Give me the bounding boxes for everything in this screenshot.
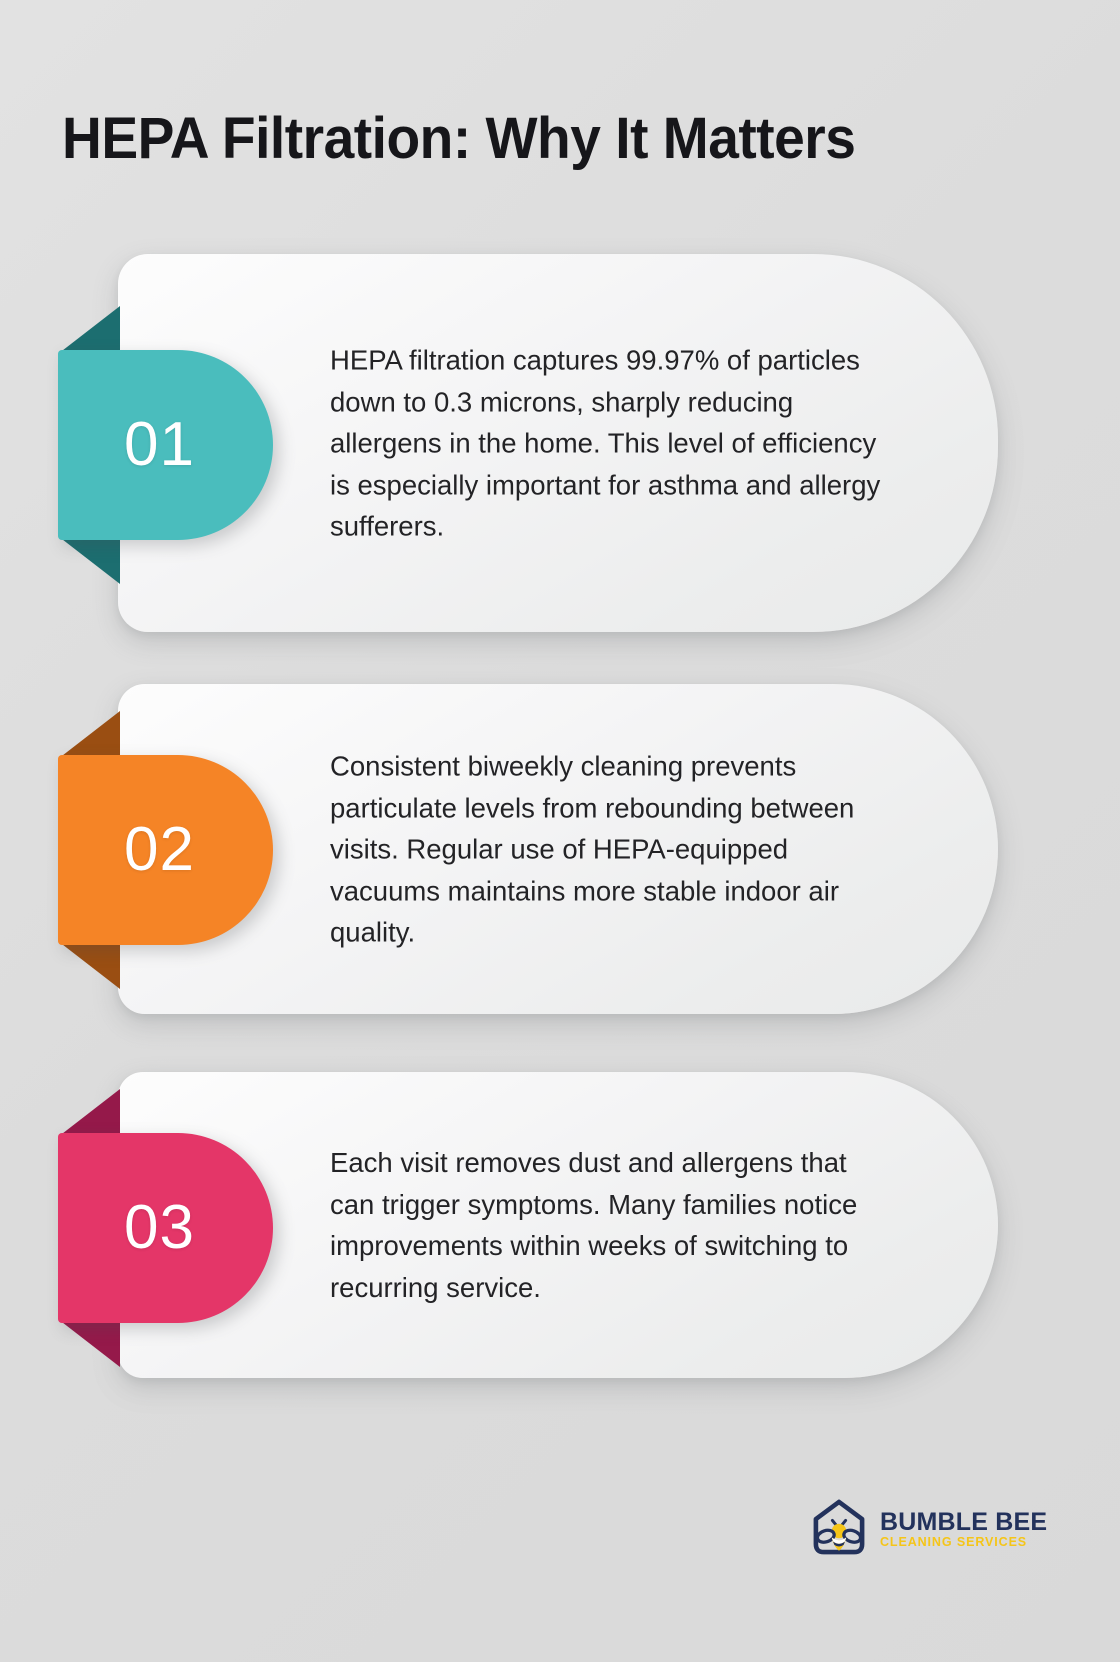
card-2-body-text: Consistent biweekly cleaning prevents pa…	[330, 745, 888, 953]
ribbon-fold-shape	[58, 711, 120, 759]
ribbon-fold-bottom-3	[58, 1319, 120, 1367]
badge-body-2: 02	[58, 755, 273, 945]
ribbon-fold-shape	[58, 306, 120, 354]
ribbon-fold-top-2	[58, 711, 120, 759]
ribbon-fold-top-1	[58, 306, 120, 354]
infographic-page: HEPA Filtration: Why It Matters HEPA fil…	[0, 0, 1120, 1662]
ribbon-fold-bottom-2	[58, 941, 120, 989]
ribbon-fold-shape	[58, 1089, 120, 1137]
badge-body-3: 03	[58, 1133, 273, 1323]
logo-wordmark: BUMBLE BEE CLEANING SERVICES	[880, 1505, 1047, 1549]
number-badge-3: 03	[58, 1133, 273, 1323]
ribbon-fold-shape	[58, 536, 120, 584]
ribbon-fold-bottom-1	[58, 536, 120, 584]
badge-body-1: 01	[58, 350, 273, 540]
bee-house-icon	[806, 1494, 872, 1560]
ribbon-fold-shape	[58, 941, 120, 989]
number-badge-1: 01	[58, 350, 273, 540]
badge-number-label: 02	[124, 819, 195, 881]
brand-logo: BUMBLE BEE CLEANING SERVICES	[806, 1488, 1014, 1566]
card-1-body-text: HEPA filtration captures 99.97% of parti…	[330, 339, 888, 547]
logo-name: BUMBLE BEE	[880, 1509, 1047, 1535]
badge-number-label: 01	[124, 414, 195, 476]
ribbon-fold-shape	[58, 1319, 120, 1367]
card-3-body-text: Each visit removes dust and allergens th…	[330, 1142, 888, 1308]
badge-number-label: 03	[124, 1197, 195, 1259]
page-title: HEPA Filtration: Why It Matters	[62, 104, 974, 174]
number-badge-2: 02	[58, 755, 273, 945]
ribbon-fold-top-3	[58, 1089, 120, 1137]
logo-tagline: CLEANING SERVICES	[880, 1535, 1047, 1549]
